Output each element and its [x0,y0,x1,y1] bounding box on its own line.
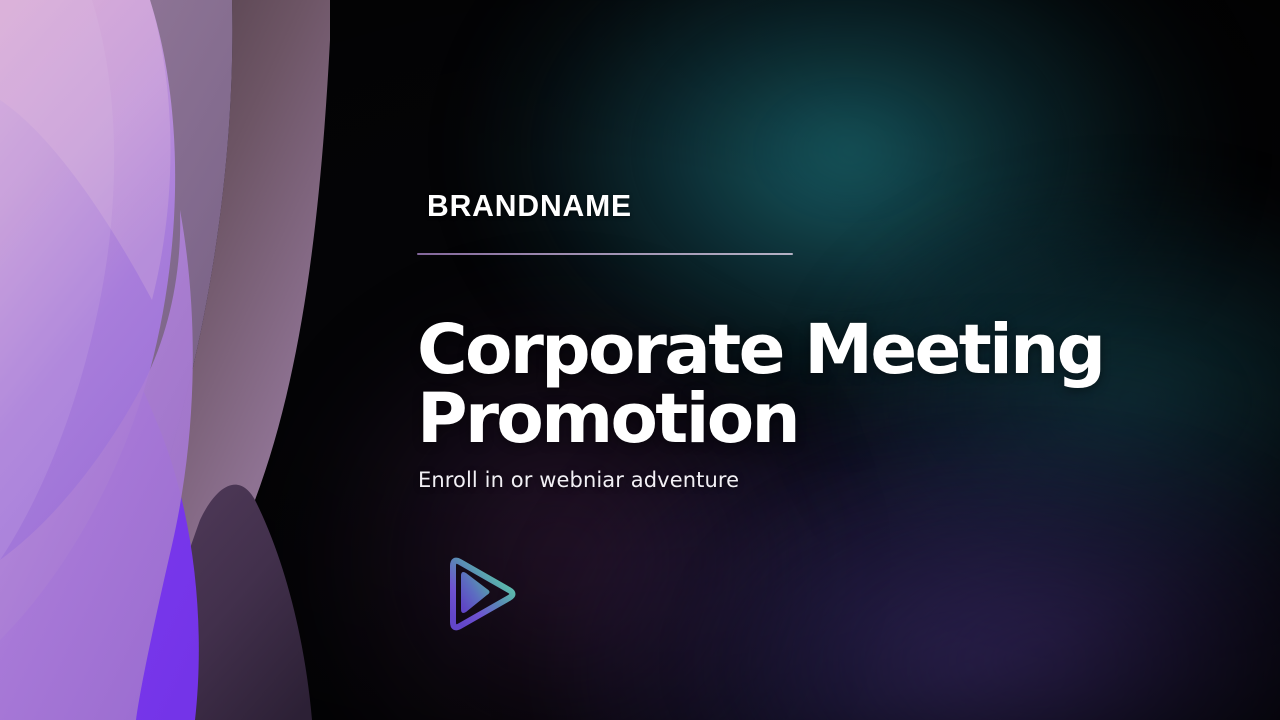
subtitle: Enroll in or webniar adventure [418,468,739,492]
headline-line-2: Promotion [417,385,1207,453]
brand-name: BRANDNAME [427,190,632,221]
title-divider [417,253,793,255]
play-triangle-icon [431,550,521,636]
promo-slide: BRANDNAME Corporate Meeting Promotion En… [0,0,1280,720]
content-column: BRANDNAME Corporate Meeting Promotion En… [417,0,1217,720]
play-button[interactable] [431,550,521,636]
left-ribbon-decoration [0,0,330,720]
page-title: Corporate Meeting Promotion [417,316,1207,453]
